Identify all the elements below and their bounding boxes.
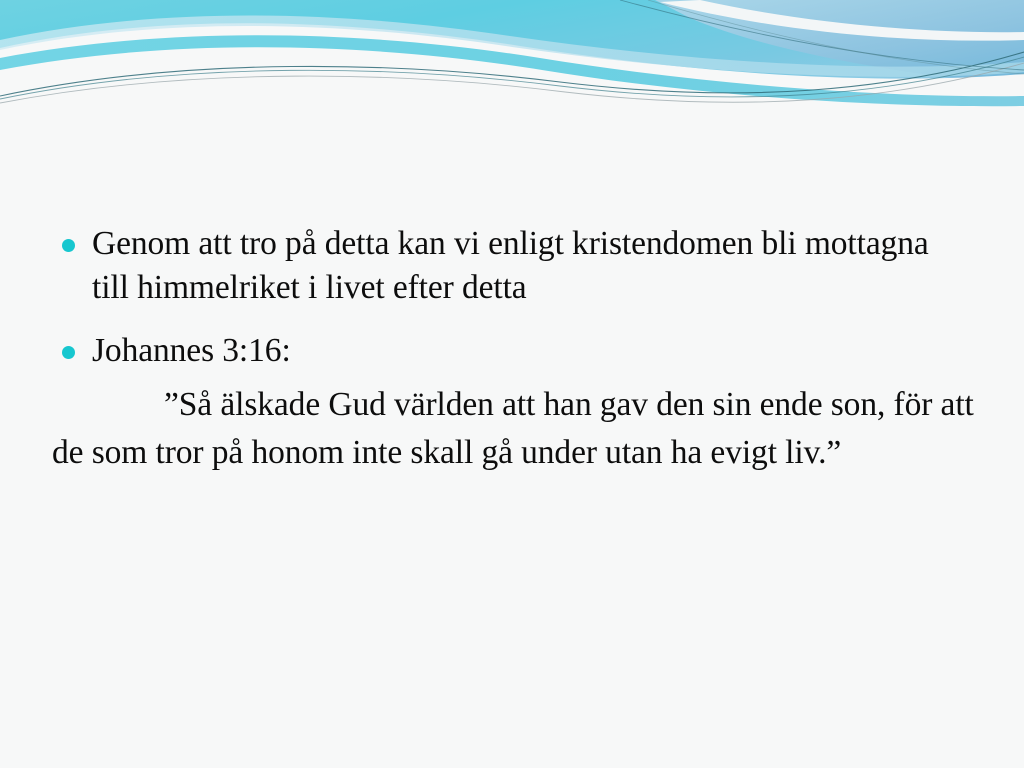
- bullet-list-item-1: Genom att tro på detta kan vi enligt kri…: [56, 222, 972, 309]
- bullet-row: Johannes 3:16:: [56, 329, 972, 373]
- slide-content: Genom att tro på detta kan vi enligt kri…: [0, 0, 1024, 768]
- bullet-item-text: Genom att tro på detta kan vi enligt kri…: [92, 225, 929, 306]
- bible-quote-text: ”Så älskade Gud världen att han gav den …: [52, 381, 982, 476]
- bullet-list-item-2: Johannes 3:16:: [56, 329, 972, 373]
- bullet-dot-icon: [62, 346, 75, 359]
- presentation-slide: Genom att tro på detta kan vi enligt kri…: [0, 0, 1024, 768]
- bullet-row: Genom att tro på detta kan vi enligt kri…: [56, 222, 972, 309]
- bullet-item-text: Johannes 3:16:: [92, 332, 291, 369]
- bullet-dot-icon: [62, 239, 75, 252]
